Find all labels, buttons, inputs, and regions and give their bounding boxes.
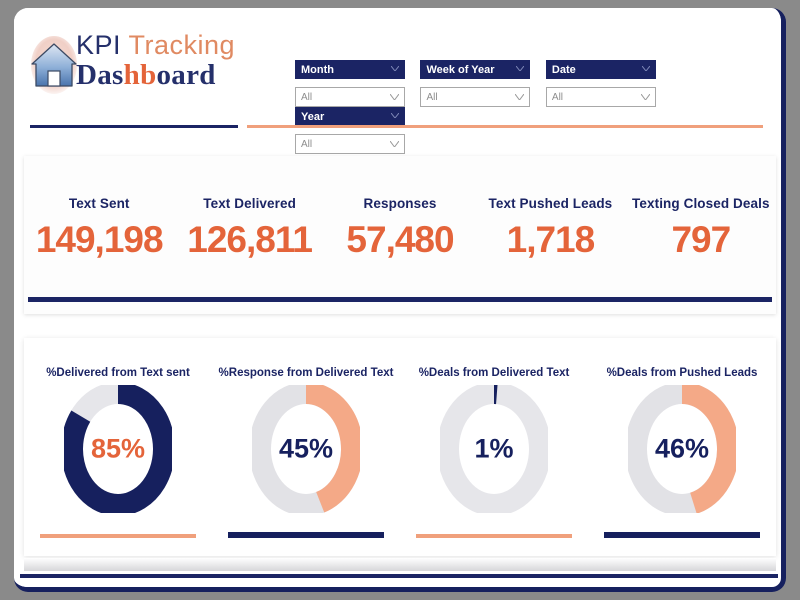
kpi-panel-underline xyxy=(28,297,772,302)
donut-title: %Deals from Delivered Text xyxy=(400,367,588,379)
kpi-label: Text Sent xyxy=(24,196,174,211)
brand-tracking: Tracking xyxy=(129,30,236,60)
kpi-label: Text Delivered xyxy=(174,196,324,211)
donut-title: %Response from Delivered Text xyxy=(212,367,400,379)
donut-chart: 1% xyxy=(440,385,548,513)
brand-logo: KPI Tracking Dashboard xyxy=(28,30,252,106)
kpi-label: Responses xyxy=(325,196,475,211)
chevron-down-icon xyxy=(391,66,399,71)
kpi-value: 797 xyxy=(626,219,776,261)
filter-date-header[interactable]: Date xyxy=(546,60,656,79)
kpi-label: Texting Closed Deals xyxy=(626,196,776,211)
kpi-card-text-pushed-leads: Text Pushed Leads 1,718 xyxy=(475,156,625,296)
filter-week-of-year-header[interactable]: Week of Year xyxy=(420,60,530,79)
filter-month-header[interactable]: Month xyxy=(295,60,405,79)
header-divider-navy xyxy=(30,125,238,128)
filter-week-of-year-value: All xyxy=(426,92,437,103)
filter-bar: Month All Week of Year xyxy=(295,60,781,154)
chevron-down-icon xyxy=(642,66,650,71)
header-divider-salmon xyxy=(247,125,763,128)
filter-week-of-year-label: Week of Year xyxy=(426,64,494,76)
kpi-card-text-sent: Text Sent 149,198 xyxy=(24,156,174,296)
donut-underline xyxy=(40,534,196,538)
donut-chart: 45% xyxy=(252,385,360,513)
chevron-down-icon xyxy=(641,94,650,100)
donut-underline xyxy=(228,532,384,538)
kpi-value: 126,811 xyxy=(174,219,324,261)
kpi-value: 149,198 xyxy=(24,219,174,261)
donut-card-deals-from-delivered-text: %Deals from Delivered Text 1% xyxy=(400,338,588,556)
donut-chart: 85% xyxy=(64,385,172,513)
filter-year-value: All xyxy=(301,139,312,150)
chevron-down-icon xyxy=(391,113,399,118)
kpi-card-text-delivered: Text Delivered 126,811 xyxy=(174,156,324,296)
donut-value-label: 85% xyxy=(64,434,172,465)
donut-underline xyxy=(604,532,760,538)
kpi-summary-panel: Text Sent 149,198 Text Delivered 126,811… xyxy=(24,156,776,314)
filter-month-label: Month xyxy=(301,64,334,76)
dashboard-header: KPI Tracking Dashboard Month All xyxy=(14,8,781,130)
house-icon xyxy=(28,34,80,96)
chevron-down-icon xyxy=(515,94,524,100)
donut-card-deals-from-pushed-leads: %Deals from Pushed Leads 46% xyxy=(588,338,776,556)
dashboard-page: KPI Tracking Dashboard Month All xyxy=(14,8,786,592)
brand-line-1: KPI Tracking xyxy=(76,30,256,60)
brand-hb: hb xyxy=(124,59,157,91)
filter-month-select[interactable]: All xyxy=(295,87,405,107)
donut-value-label: 46% xyxy=(628,434,736,465)
filter-year-label: Year xyxy=(301,111,324,123)
filter-date-select[interactable]: All xyxy=(546,87,656,107)
filter-year-header[interactable]: Year xyxy=(295,107,405,126)
filter-week-of-year[interactable]: Week of Year All xyxy=(420,60,530,107)
donut-chart: 46% xyxy=(628,385,736,513)
filter-month-value: All xyxy=(301,92,312,103)
brand-das: Das xyxy=(76,59,124,91)
donut-title: %Deals from Pushed Leads xyxy=(588,367,776,379)
bottom-band xyxy=(24,558,776,571)
filter-year-select[interactable]: All xyxy=(295,134,405,154)
kpi-card-texting-closed-deals: Texting Closed Deals 797 xyxy=(626,156,776,296)
filter-date[interactable]: Date All xyxy=(546,60,656,107)
conversion-rate-panel: %Delivered from Text sent 85% %Response … xyxy=(24,338,776,556)
donut-underline xyxy=(416,534,572,538)
brand-oard: oard xyxy=(157,59,216,91)
chevron-down-icon xyxy=(390,94,399,100)
brand-wordmark: KPI Tracking Dashboard xyxy=(76,30,256,91)
kpi-value: 1,718 xyxy=(475,219,625,261)
brand-line-2: Dashboard xyxy=(76,60,256,91)
donut-row: %Delivered from Text sent 85% %Response … xyxy=(24,338,776,556)
kpi-row: Text Sent 149,198 Text Delivered 126,811… xyxy=(24,156,776,296)
donut-title: %Delivered from Text sent xyxy=(24,367,212,379)
filter-month[interactable]: Month All xyxy=(295,60,405,107)
chevron-down-icon xyxy=(516,66,524,71)
donut-card-delivered-from-text-sent: %Delivered from Text sent 85% xyxy=(24,338,212,556)
bottom-divider xyxy=(20,574,778,578)
chevron-down-icon xyxy=(390,141,399,147)
kpi-card-responses: Responses 57,480 xyxy=(325,156,475,296)
filter-date-label: Date xyxy=(552,64,576,76)
donut-value-label: 1% xyxy=(440,434,548,465)
donut-value-label: 45% xyxy=(252,434,360,465)
filter-week-of-year-select[interactable]: All xyxy=(420,87,530,107)
kpi-label: Text Pushed Leads xyxy=(475,196,625,211)
filter-year[interactable]: Year All xyxy=(295,107,405,154)
donut-card-response-from-delivered-text: %Response from Delivered Text 45% xyxy=(212,338,400,556)
filter-date-value: All xyxy=(552,92,563,103)
brand-kpi: KPI xyxy=(76,30,121,60)
kpi-value: 57,480 xyxy=(325,219,475,261)
dashboard-canvas: KPI Tracking Dashboard Month All xyxy=(14,8,781,587)
